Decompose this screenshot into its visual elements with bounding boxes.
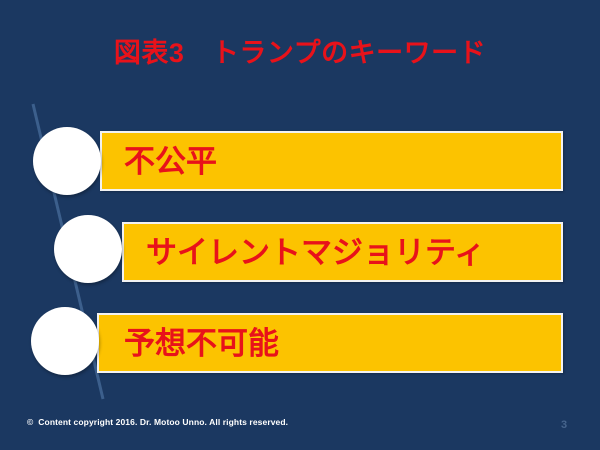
keyword-bar-3[interactable]: 予想不可能	[97, 313, 563, 373]
slide-canvas: 図表3 トランプのキーワード 不公平 サイレントマジョリティ 予想不可能 © C…	[0, 0, 600, 450]
bullet-circle-3	[31, 307, 99, 375]
footer-copyright: © Content copyright 2016. Dr. Motoo Unno…	[27, 417, 288, 427]
keyword-bar-2-label: サイレントマジョリティ	[146, 237, 485, 268]
page-number: 3	[554, 419, 574, 431]
keyword-bar-3-label: 予想不可能	[124, 328, 279, 359]
keyword-bar-1[interactable]: 不公平	[100, 131, 563, 191]
bullet-circle-2	[54, 215, 122, 283]
keyword-bar-2[interactable]: サイレントマジョリティ	[122, 222, 563, 282]
page-title: 図表3 トランプのキーワード	[0, 36, 600, 70]
bullet-circle-1	[33, 127, 101, 195]
keyword-bar-1-label: 不公平	[124, 146, 217, 177]
